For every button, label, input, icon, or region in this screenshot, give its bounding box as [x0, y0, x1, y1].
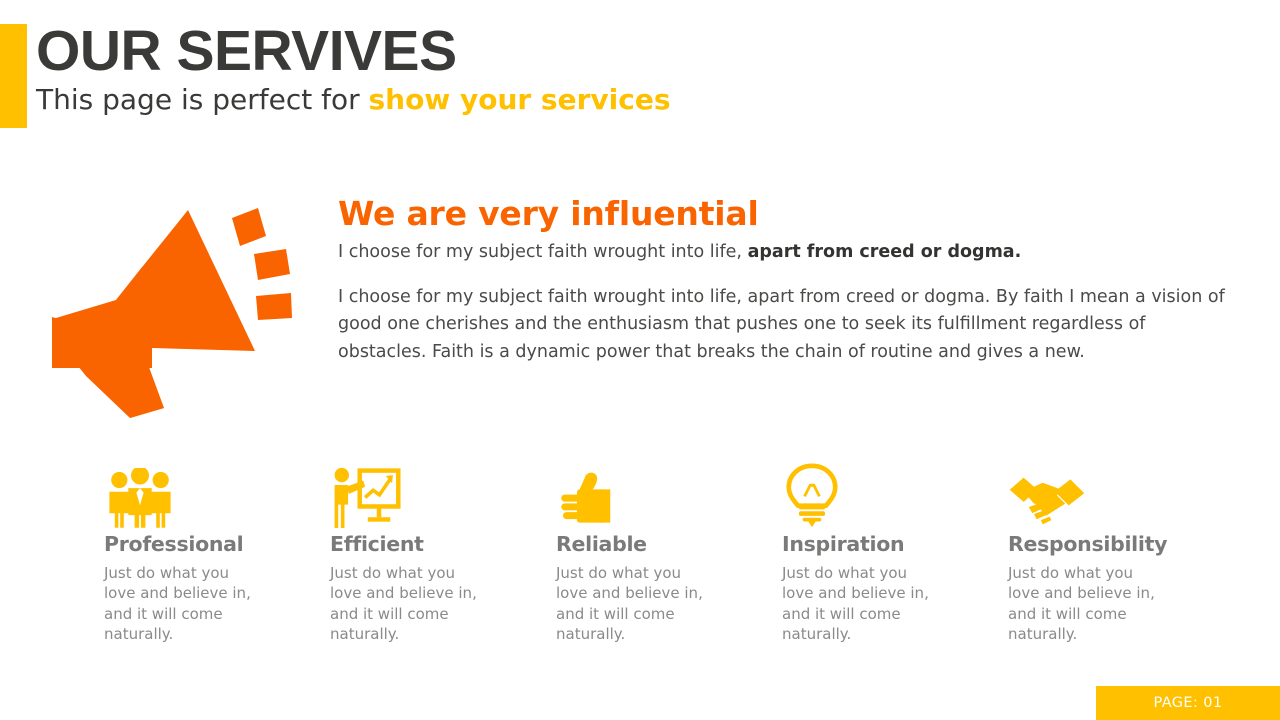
page-subtitle-plain: This page is perfect for — [36, 83, 369, 116]
feature-cards-row: Professional Just do what you love and b… — [104, 462, 1264, 645]
header-block: OUR SERVIVES This page is perfect for sh… — [36, 22, 1136, 116]
page-subtitle-accent: show your services — [369, 83, 671, 116]
feature-card-title: Efficient — [330, 532, 556, 557]
feature-card-efficient: Efficient Just do what you love and beli… — [330, 462, 556, 645]
lightbulb-icon — [782, 462, 1008, 528]
feature-card-professional: Professional Just do what you love and b… — [104, 462, 330, 645]
page-number-badge: PAGE: 01 — [1096, 686, 1280, 720]
header-accent-bar — [0, 24, 27, 128]
thumbs-up-icon — [556, 462, 782, 528]
hero-lead-bold: apart from creed or dogma. — [748, 242, 1022, 262]
page-subtitle: This page is perfect for show your servi… — [36, 84, 1136, 116]
hero-body-paragraph: I choose for my subject faith wrought in… — [338, 284, 1238, 367]
feature-card-body: Just do what you love and believe in, an… — [782, 563, 932, 645]
hero-lead-paragraph: I choose for my subject faith wrought in… — [338, 241, 1238, 265]
hero-heading: We are very influential — [338, 195, 1238, 234]
presentation-chart-icon — [330, 462, 556, 528]
megaphone-icon — [42, 196, 322, 418]
page-number-label: PAGE: 01 — [1153, 695, 1222, 711]
feature-card-title: Reliable — [556, 532, 782, 557]
hero-lead-plain: I choose for my subject faith wrought in… — [338, 242, 748, 262]
feature-card-body: Just do what you love and believe in, an… — [1008, 563, 1158, 645]
page-title: OUR SERVIVES — [36, 22, 1136, 80]
feature-card-body: Just do what you love and believe in, an… — [330, 563, 480, 645]
hero-text-block: We are very influential I choose for my … — [338, 195, 1238, 366]
feature-card-title: Responsibility — [1008, 532, 1234, 557]
feature-card-inspiration: Inspiration Just do what you love and be… — [782, 462, 1008, 645]
feature-card-body: Just do what you love and believe in, an… — [556, 563, 706, 645]
feature-card-title: Inspiration — [782, 532, 1008, 557]
handshake-icon — [1008, 462, 1234, 528]
people-group-icon — [104, 462, 330, 528]
feature-card-title: Professional — [104, 532, 330, 557]
feature-card-body: Just do what you love and believe in, an… — [104, 563, 254, 645]
feature-card-responsibility: Responsibility Just do what you love and… — [1008, 462, 1234, 645]
feature-card-reliable: Reliable Just do what you love and belie… — [556, 462, 782, 645]
